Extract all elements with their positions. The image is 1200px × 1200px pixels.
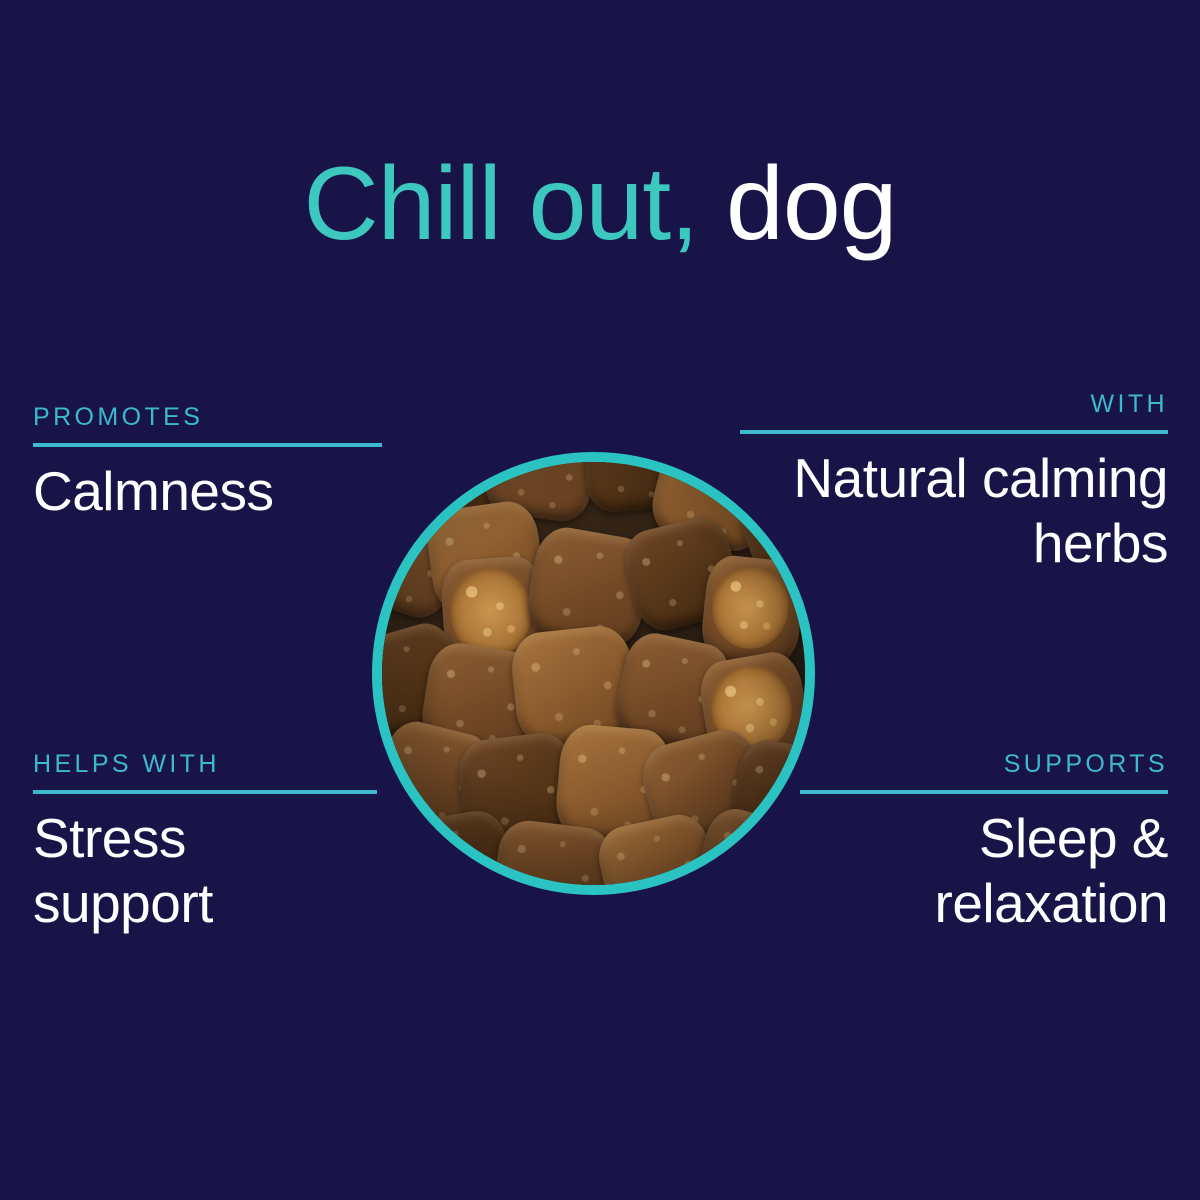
feature-promotes-eyebrow: PROMOTES xyxy=(33,405,382,430)
feature-helps-with: HELPS WITH Stress support xyxy=(33,752,377,936)
product-image-circle xyxy=(372,452,815,895)
infographic-canvas: Chill out, dog PROMOTES Calmness WITH Na… xyxy=(0,0,1200,1200)
feature-supports-headline: Sleep & relaxation xyxy=(800,806,1168,936)
feature-promotes: PROMOTES Calmness xyxy=(33,405,382,524)
feature-with-divider xyxy=(740,430,1168,434)
feature-helps-with-divider xyxy=(33,790,377,794)
page-title-accent: Chill out, xyxy=(303,146,698,262)
feature-supports-divider xyxy=(800,790,1168,794)
feature-supports-eyebrow: SUPPORTS xyxy=(800,752,1168,777)
feature-supports: SUPPORTS Sleep & relaxation xyxy=(800,752,1168,936)
feature-promotes-headline: Calmness xyxy=(33,459,382,524)
page-title: Chill out, dog xyxy=(0,148,1200,260)
dog-chew-treats-photo xyxy=(372,452,815,895)
feature-helps-with-headline: Stress support xyxy=(33,806,377,936)
feature-promotes-divider xyxy=(33,443,382,447)
feature-with-eyebrow: WITH xyxy=(740,392,1168,417)
feature-helps-with-eyebrow: HELPS WITH xyxy=(33,752,377,777)
page-title-light: dog xyxy=(726,146,897,262)
